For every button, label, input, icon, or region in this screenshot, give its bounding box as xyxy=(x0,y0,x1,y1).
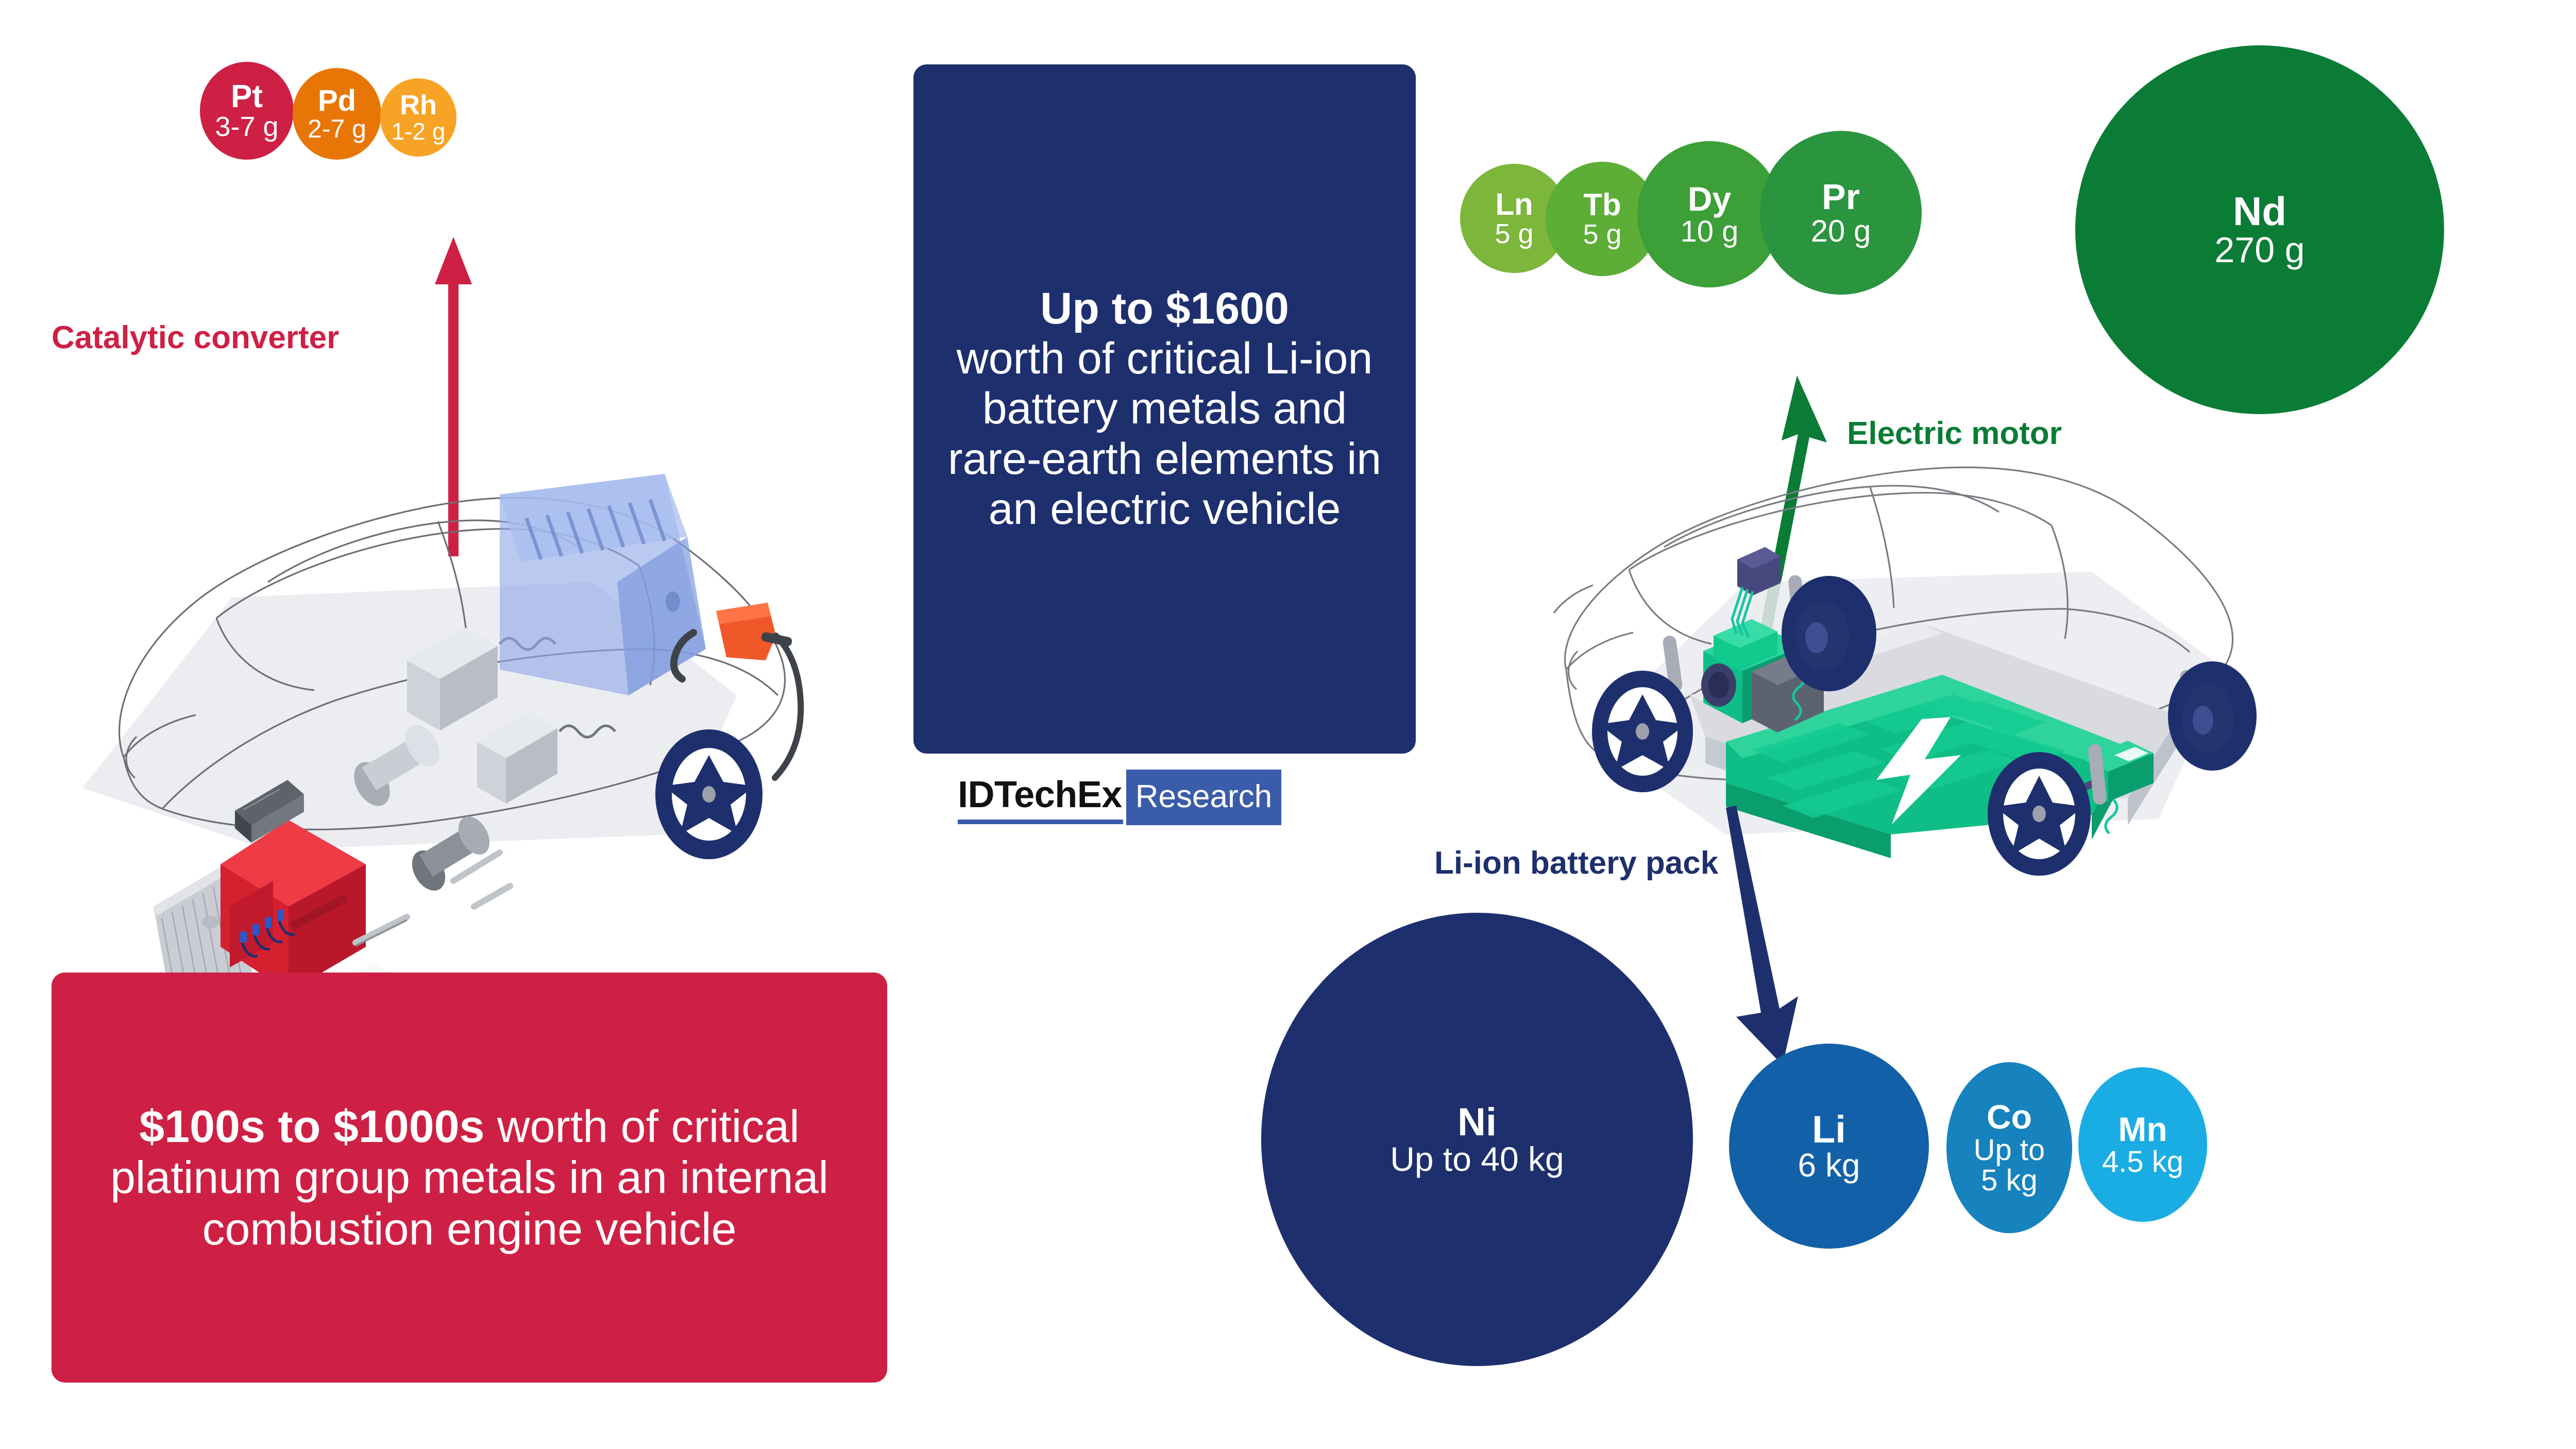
idtechex-research-logo: IDTechEx Research xyxy=(956,770,1281,825)
bubble-tb-amount: 5 g xyxy=(1583,220,1621,249)
bubble-li: Li 6 kg xyxy=(1729,1044,1929,1249)
bubble-li-amount: 6 kg xyxy=(1798,1149,1860,1182)
infographic-canvas: Pt 3-7 g Pd 2-7 g Rh 1-2 g Catalytic con… xyxy=(0,0,2576,1449)
bubble-nd: Nd 270 g xyxy=(2075,45,2444,414)
ice-callout-box: $100s to $1000s worth of critical platin… xyxy=(52,973,887,1383)
idtechex-wordmark: IDTechEx xyxy=(956,770,1126,825)
bubble-ni-amount: Up to 40 kg xyxy=(1390,1142,1564,1177)
bubble-pr-symbol: Pr xyxy=(1822,179,1860,215)
bubble-ni: Ni Up to 40 kg xyxy=(1261,913,1693,1366)
bubble-co-amount-line2: 5 kg xyxy=(1981,1165,2038,1196)
ice-callout-highlight: $100s to $1000s xyxy=(139,1101,484,1152)
catalytic-converter-label: Catalytic converter xyxy=(52,319,339,356)
bubble-mn: Mn 4.5 kg xyxy=(2078,1067,2207,1222)
bubble-tb-symbol: Tb xyxy=(1583,189,1621,220)
bubble-pd-symbol: Pd xyxy=(318,86,356,116)
bubble-rh-amount: 1-2 g xyxy=(392,120,446,144)
bubble-co-symbol: Co xyxy=(1987,1100,2032,1134)
bubble-dy-symbol: Dy xyxy=(1688,182,1731,216)
bubble-rh: Rh 1-2 g xyxy=(380,78,456,157)
bubble-nd-symbol: Nd xyxy=(2233,191,2286,232)
bubble-pt-symbol: Pt xyxy=(231,80,263,113)
bubble-pt: Pt 3-7 g xyxy=(200,62,294,160)
ev-callout-highlight: Up to $1600 xyxy=(1040,284,1289,333)
bubble-mn-amount: 4.5 kg xyxy=(2102,1147,2183,1177)
bubble-pr: Pr 20 g xyxy=(1760,131,1922,295)
battery-pack-arrow-icon xyxy=(1716,804,1870,1071)
bubble-pd: Pd 2-7 g xyxy=(293,68,381,160)
ice-vehicle-illustration xyxy=(46,428,829,881)
li-ion-battery-pack-label: Li-ion battery pack xyxy=(1434,845,1718,881)
bubble-li-symbol: Li xyxy=(1812,1110,1846,1149)
ev-vehicle-illustration xyxy=(1510,428,2272,891)
research-badge: Research xyxy=(1126,770,1281,825)
bubble-co-amount-line1: Up to xyxy=(1974,1135,2045,1165)
ev-callout-rest: worth of critical Li-ion battery metals … xyxy=(948,334,1381,534)
bubble-co: Co Up to 5 kg xyxy=(1946,1062,2072,1233)
bubble-rh-symbol: Rh xyxy=(400,91,437,120)
bubble-ln-symbol: Ln xyxy=(1495,189,1533,220)
bubble-nd-amount: 270 g xyxy=(2214,232,2304,268)
bubble-pr-amount: 20 g xyxy=(1811,215,1871,247)
bubble-dy-amount: 10 g xyxy=(1681,216,1739,247)
bubble-ni-symbol: Ni xyxy=(1458,1102,1497,1143)
ev-callout-box: Up to $1600 worth of critical Li-ion bat… xyxy=(913,64,1416,754)
bubble-ln-amount: 5 g xyxy=(1495,220,1533,248)
bubble-pd-amount: 2-7 g xyxy=(308,116,366,142)
bubble-mn-symbol: Mn xyxy=(2118,1112,2167,1147)
bubble-pt-amount: 3-7 g xyxy=(215,113,278,141)
